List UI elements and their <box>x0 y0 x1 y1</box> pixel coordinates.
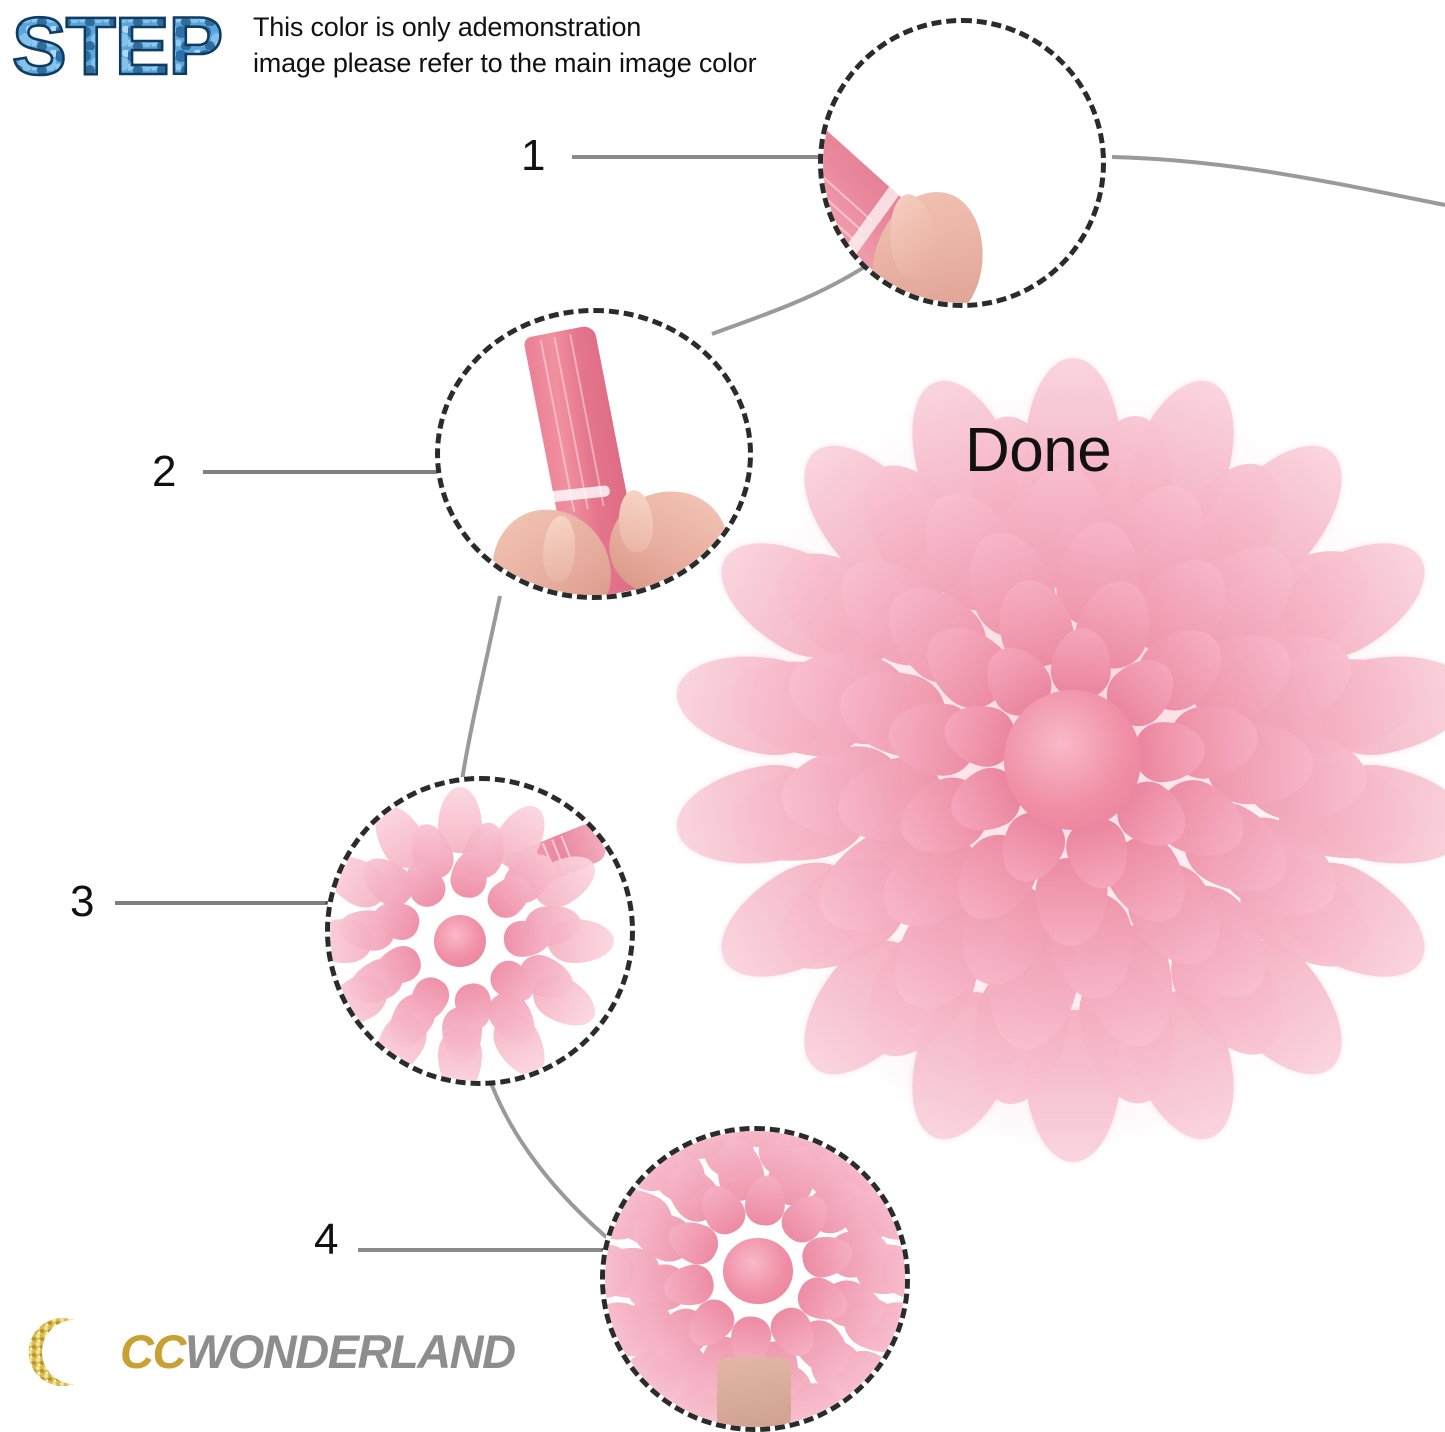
connector-curve-1-2 <box>712 258 878 334</box>
done-label: Done <box>965 415 1111 486</box>
pom-core <box>1004 690 1141 830</box>
svg-text:STEP: STEP <box>12 2 222 92</box>
step-number-2: 2 <box>152 450 176 494</box>
header-note-line-1: This color is only ademonstration <box>253 10 853 46</box>
pink-tissue-pom-pom-icon <box>810 490 1335 1030</box>
header-note: This color is only ademonstration image … <box>253 10 853 81</box>
connector-curve-tail <box>1112 157 1445 205</box>
step-4-photo-circle <box>600 1126 910 1432</box>
step-number-4: 4 <box>314 1218 338 1262</box>
step-number-1: 1 <box>521 134 545 178</box>
step-logo-icon: STEP <box>8 2 243 94</box>
pom-core <box>434 915 486 967</box>
step-3-illustration <box>330 781 630 1081</box>
done-section: Done <box>700 330 1445 1170</box>
brand-name-prefix: CC <box>120 1325 185 1378</box>
brand-wordmark: CCWONDERLAND <box>120 1324 515 1379</box>
connector-curve-3-4 <box>487 1072 612 1242</box>
instruction-diagram: STEP This color is only ademonstration i… <box>0 0 1445 1432</box>
step-1-photo-circle <box>818 18 1106 308</box>
step-4-illustration <box>605 1131 905 1427</box>
step-number-3: 3 <box>70 880 94 924</box>
crescent-cc-monogram-icon <box>12 1302 112 1402</box>
step-3-photo-circle <box>325 776 635 1086</box>
pom-core <box>723 1238 792 1304</box>
brand-name-suffix: WONDERLAND <box>185 1325 515 1378</box>
brand-footer: CCWONDERLAND <box>12 1298 552 1406</box>
connector-curve-2-3 <box>462 596 500 780</box>
hand-icon <box>717 1357 791 1427</box>
step-1-illustration <box>823 23 1101 303</box>
half-fluffed-flower-icon <box>360 841 560 1041</box>
header-note-line-2: image please refer to the main image col… <box>253 46 853 82</box>
